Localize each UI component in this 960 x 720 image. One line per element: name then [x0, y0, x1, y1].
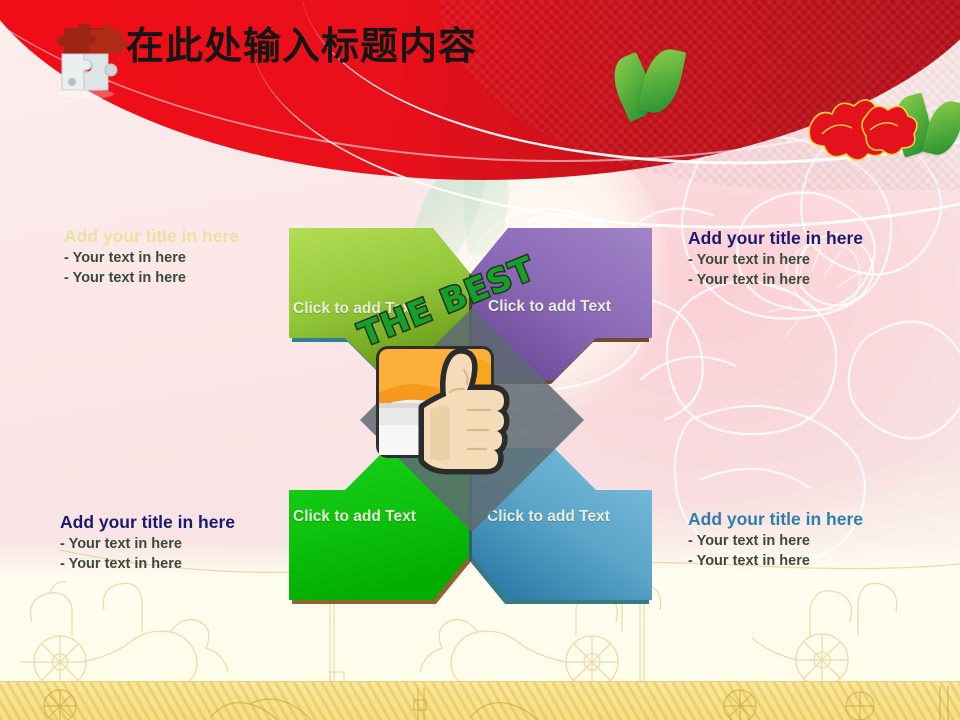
text-block-title: Add your title in here: [64, 226, 239, 248]
text-block-line: - Your text in here: [688, 531, 863, 552]
text-block-bottom-left: Add your title in here - Your text in he…: [60, 512, 235, 575]
text-block-line: - Your text in here: [60, 534, 235, 555]
thumbs-up-icon: [368, 330, 538, 495]
strip-lineart: [0, 682, 960, 720]
text-block-title: Add your title in here: [60, 512, 235, 534]
text-block-line: - Your text in here: [64, 268, 239, 289]
text-block-line: - Your text in here: [688, 551, 863, 572]
puzzle-piece-icon: [48, 24, 128, 102]
text-block-line: - Your text in here: [60, 554, 235, 575]
text-block-top-right: Add your title in here - Your text in he…: [688, 228, 863, 291]
text-block-title: Add your title in here: [688, 509, 863, 531]
text-block-title: Add your title in here: [688, 228, 863, 250]
text-block-line: - Your text in here: [64, 248, 239, 269]
slide-canvas: 在此处输入标题内容 Add your title in here - Your …: [0, 0, 960, 720]
text-block-line: - Your text in here: [688, 270, 863, 291]
text-block-top-left: Add your title in here - Your text in he…: [64, 226, 239, 289]
text-block-line: - Your text in here: [688, 250, 863, 271]
page-title: 在此处输入标题内容: [126, 26, 477, 68]
text-block-bottom-right: Add your title in here - Your text in he…: [688, 509, 863, 572]
slide-header: 在此处输入标题内容: [0, 0, 960, 110]
